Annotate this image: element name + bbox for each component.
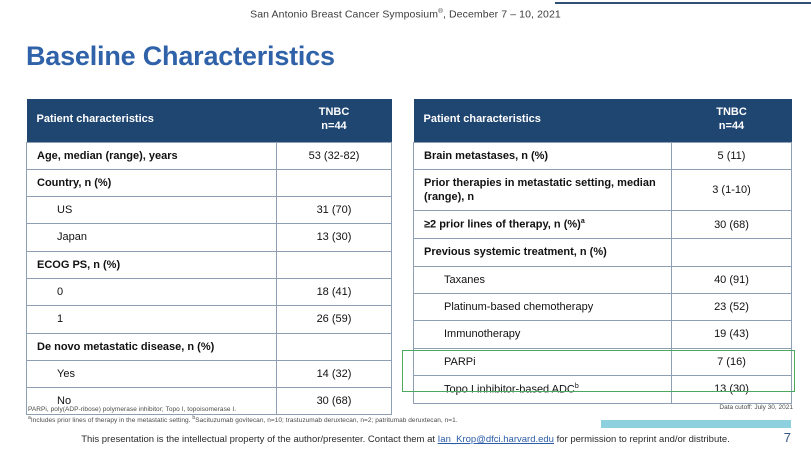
- row-value: 5 (11): [672, 142, 792, 169]
- footnote-superscript: a: [581, 218, 585, 225]
- table-row: Immunotherapy19 (43): [414, 321, 792, 348]
- row-label: Prior therapies in metastatic setting, m…: [414, 169, 672, 211]
- row-label: Immunotherapy: [414, 321, 672, 348]
- column-header-tnbc-n: n=44: [287, 120, 382, 134]
- table-row: Age, median (range), years53 (32-82): [27, 142, 392, 169]
- table-row: PARPi7 (16): [414, 348, 792, 375]
- column-header-tnbc-label: TNBC: [716, 106, 747, 118]
- teal-accent-bar: [601, 420, 791, 428]
- row-value: 13 (30): [672, 375, 792, 403]
- copyright-text-before: This presentation is the intellectual pr…: [81, 434, 437, 445]
- row-label: PARPi: [414, 348, 672, 375]
- row-label: ECOG PS, n (%): [27, 251, 277, 278]
- row-value: 7 (16): [672, 348, 792, 375]
- row-value: 19 (43): [672, 321, 792, 348]
- table-row: Yes14 (32): [27, 360, 392, 387]
- table-body-left: Age, median (range), years53 (32-82)Coun…: [27, 142, 392, 415]
- table-row: Platinum-based chemotherapy23 (52): [414, 293, 792, 320]
- footnote-abbreviations: PARPi, poly(ADP-ribose) polymerase inhib…: [28, 406, 236, 413]
- presenter-email-link[interactable]: Ian_Krop@dfci.harvard.edu: [438, 434, 554, 445]
- row-label: Brain metastases, n (%): [414, 142, 672, 169]
- row-value: 31 (70): [277, 197, 392, 224]
- table-row: 018 (41): [27, 278, 392, 305]
- page-number: 7: [784, 430, 791, 445]
- column-header-characteristics: Patient characteristics: [414, 99, 672, 142]
- footnote-superscript: b: [575, 383, 579, 390]
- conference-dates: , December 7 – 10, 2021: [443, 9, 561, 21]
- row-label: Previous systemic treatment, n (%): [414, 239, 672, 266]
- row-label: De novo metastatic disease, n (%): [27, 333, 277, 360]
- baseline-characteristics-table-right: Patient characteristics TNBC n=44 Brain …: [413, 99, 792, 404]
- table-row: ECOG PS, n (%): [27, 251, 392, 278]
- table-row: US31 (70): [27, 197, 392, 224]
- footnote-text-a: Includes prior lines of therapy in the m…: [31, 417, 193, 424]
- column-header-tnbc-n: n=44: [682, 120, 782, 134]
- row-label: 1: [27, 306, 277, 333]
- table-row: Prior therapies in metastatic setting, m…: [414, 169, 792, 211]
- table-row: De novo metastatic disease, n (%): [27, 333, 392, 360]
- row-label: 0: [27, 278, 277, 305]
- copyright-text-after: for permission to reprint and/or distrib…: [554, 434, 730, 445]
- page-title: Baseline Characteristics: [26, 41, 335, 72]
- slide-canvas: San Antonio Breast Cancer Symposium®, De…: [0, 0, 811, 450]
- row-label: Taxanes: [414, 266, 672, 293]
- row-value: 30 (68): [277, 388, 392, 415]
- row-label: Age, median (range), years: [27, 142, 277, 169]
- row-label: US: [27, 197, 277, 224]
- top-rule-decoration: [555, 2, 811, 4]
- table-row: Japan13 (30): [27, 224, 392, 251]
- row-value: [277, 251, 392, 278]
- table-body-right: Brain metastases, n (%)5 (11)Prior thera…: [414, 142, 792, 403]
- column-header-tnbc: TNBC n=44: [277, 99, 392, 142]
- baseline-characteristics-table-left: Patient characteristics TNBC n=44 Age, m…: [26, 99, 392, 415]
- column-header-characteristics: Patient characteristics: [27, 99, 277, 142]
- column-header-tnbc-label: TNBC: [319, 106, 350, 118]
- row-value: 30 (68): [672, 211, 792, 239]
- table-header-row: Patient characteristics TNBC n=44: [414, 99, 792, 142]
- row-label: Yes: [27, 360, 277, 387]
- conference-name: San Antonio Breast Cancer Symposium: [250, 9, 438, 21]
- row-value: 3 (1-10): [672, 169, 792, 211]
- table-header-row: Patient characteristics TNBC n=44: [27, 99, 392, 142]
- table-row: Brain metastases, n (%)5 (11): [414, 142, 792, 169]
- row-value: 26 (59): [277, 306, 392, 333]
- row-value: [277, 333, 392, 360]
- table-row: Taxanes40 (91): [414, 266, 792, 293]
- table-row: Previous systemic treatment, n (%): [414, 239, 792, 266]
- table-row: Country, n (%): [27, 169, 392, 196]
- row-value: 18 (41): [277, 278, 392, 305]
- row-value: 13 (30): [277, 224, 392, 251]
- copyright-notice: This presentation is the intellectual pr…: [0, 434, 811, 445]
- row-label: Topo I inhibitor-based ADCb: [414, 375, 672, 403]
- data-cutoff-label: Data cutoff: July 30, 2021: [719, 404, 793, 411]
- table-row: ≥2 prior lines of therapy, n (%)a30 (68): [414, 211, 792, 239]
- footnote-marks: aIncludes prior lines of therapy in the …: [28, 415, 458, 424]
- conference-header: San Antonio Breast Cancer Symposium®, De…: [0, 8, 811, 21]
- row-value: 53 (32-82): [277, 142, 392, 169]
- row-label: Platinum-based chemotherapy: [414, 293, 672, 320]
- row-value: [277, 169, 392, 196]
- row-label: Country, n (%): [27, 169, 277, 196]
- row-value: 14 (32): [277, 360, 392, 387]
- column-header-tnbc: TNBC n=44: [672, 99, 792, 142]
- table-row: Topo I inhibitor-based ADCb13 (30): [414, 375, 792, 403]
- row-value: 23 (52): [672, 293, 792, 320]
- row-label: Japan: [27, 224, 277, 251]
- row-value: 40 (91): [672, 266, 792, 293]
- table-row: 126 (59): [27, 306, 392, 333]
- footnote-text-b: Sacituzumab govitecan, n=10; trastuzumab…: [195, 417, 457, 424]
- row-label: ≥2 prior lines of therapy, n (%)a: [414, 211, 672, 239]
- row-value: [672, 239, 792, 266]
